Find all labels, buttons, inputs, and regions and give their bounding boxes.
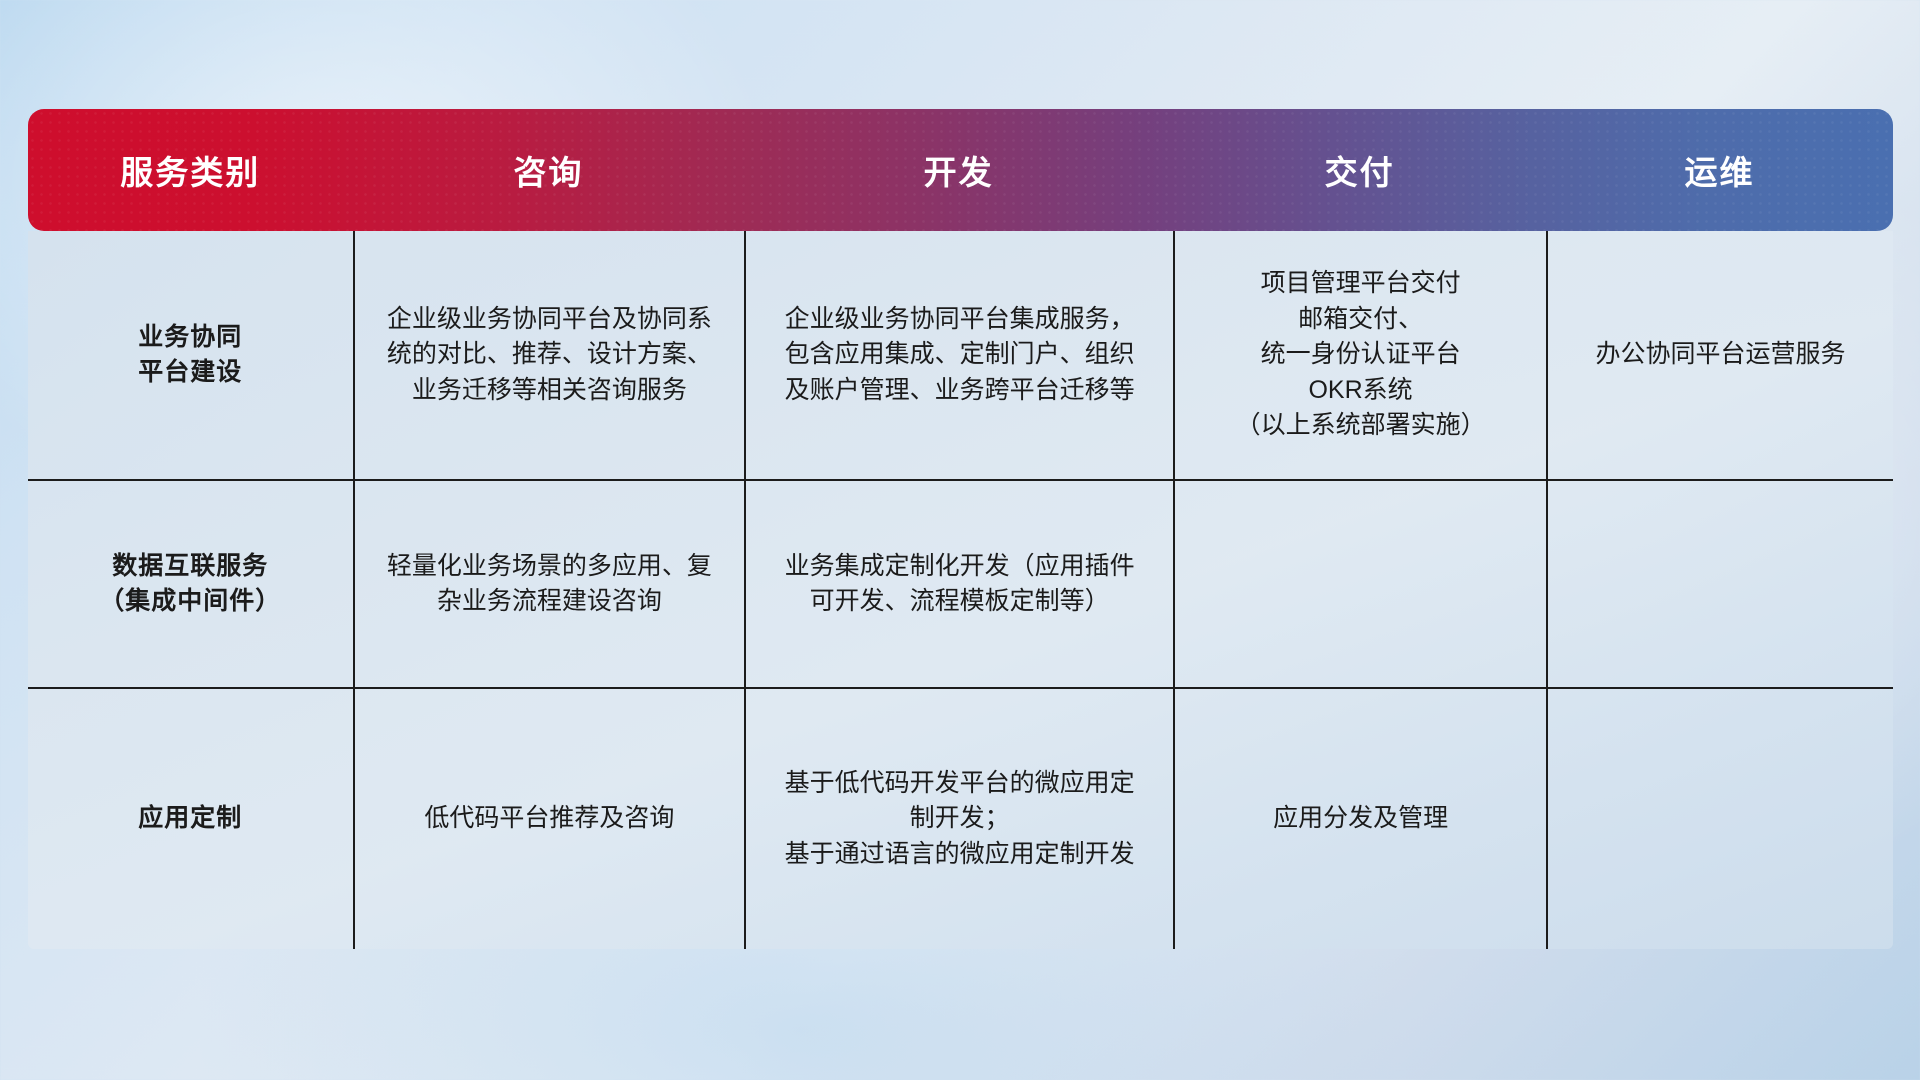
cell-delivery: 应用分发及管理	[1173, 687, 1546, 949]
table-header-row-group: 服务类别 咨询 开发 交付 运维	[28, 109, 1893, 231]
column-header-development: 开发	[744, 109, 1173, 231]
cell-consulting: 企业级业务协同平台及协同系 统的对比、推荐、设计方案、 业务迁移等相关咨询服务	[353, 231, 745, 479]
column-header-service-category: 服务类别	[28, 109, 353, 231]
table-row: 数据互联服务 （集成中间件） 轻量化业务场景的多应用、复 杂业务流程建设咨询 业…	[28, 479, 1893, 687]
cell-consulting: 轻量化业务场景的多应用、复 杂业务流程建设咨询	[353, 479, 745, 687]
service-matrix: 服务类别 咨询 开发 交付 运维 业务协同 平台建设	[28, 109, 1893, 949]
table-row: 应用定制 低代码平台推荐及咨询 基于低代码开发平台的微应用定 制开发； 基于通过…	[28, 687, 1893, 949]
cell-operations	[1546, 687, 1893, 949]
cell-text: 轻量化业务场景的多应用、复 杂业务流程建设咨询	[373, 549, 727, 620]
cell-development: 基于低代码开发平台的微应用定 制开发； 基于通过语言的微应用定制开发	[744, 687, 1173, 949]
row-category-cell: 数据互联服务 （集成中间件）	[28, 479, 353, 687]
column-header-label: 咨询	[513, 154, 583, 191]
column-header-label: 运维	[1685, 154, 1755, 191]
cell-operations: 办公协同平台运营服务	[1546, 231, 1893, 479]
table-row: 业务协同 平台建设 企业级业务协同平台及协同系 统的对比、推荐、设计方案、 业务…	[28, 231, 1893, 479]
cell-text: 办公协同平台运营服务	[1566, 337, 1875, 373]
row-category-label: 业务协同 平台建设	[46, 320, 335, 391]
cell-text: 应用分发及管理	[1193, 801, 1528, 837]
table-header-row: 服务类别 咨询 开发 交付 运维	[28, 109, 1893, 231]
cell-development: 业务集成定制化开发（应用插件 可开发、流程模板定制等）	[744, 479, 1173, 687]
cell-text: 基于低代码开发平台的微应用定 制开发； 基于通过语言的微应用定制开发	[764, 766, 1155, 873]
column-header-label: 服务类别	[120, 154, 260, 191]
cell-delivery: 项目管理平台交付 邮箱交付、 统一身份认证平台 OKR系统 （以上系统部署实施）	[1173, 231, 1546, 479]
service-matrix-table: 服务类别 咨询 开发 交付 运维 业务协同 平台建设	[28, 109, 1893, 949]
row-category-label: 应用定制	[46, 801, 335, 837]
column-header-label: 交付	[1325, 154, 1395, 191]
column-header-operations: 运维	[1546, 109, 1893, 231]
row-category-label: 数据互联服务 （集成中间件）	[46, 549, 335, 620]
cell-delivery	[1173, 479, 1546, 687]
column-header-delivery: 交付	[1173, 109, 1546, 231]
cell-operations	[1546, 479, 1893, 687]
row-category-cell: 业务协同 平台建设	[28, 231, 353, 479]
cell-text: 企业级业务协同平台集成服务， 包含应用集成、定制门户、组织 及账户管理、业务跨平…	[764, 302, 1155, 409]
cell-text: 项目管理平台交付 邮箱交付、 统一身份认证平台 OKR系统 （以上系统部署实施）	[1193, 266, 1528, 444]
cell-consulting: 低代码平台推荐及咨询	[353, 687, 745, 949]
column-header-label: 开发	[924, 154, 994, 191]
cell-text: 低代码平台推荐及咨询	[373, 801, 727, 837]
row-category-cell: 应用定制	[28, 687, 353, 949]
table-body: 业务协同 平台建设 企业级业务协同平台及协同系 统的对比、推荐、设计方案、 业务…	[28, 231, 1893, 949]
column-header-consulting: 咨询	[353, 109, 745, 231]
cell-development: 企业级业务协同平台集成服务， 包含应用集成、定制门户、组织 及账户管理、业务跨平…	[744, 231, 1173, 479]
cell-text: 业务集成定制化开发（应用插件 可开发、流程模板定制等）	[764, 549, 1155, 620]
cell-text: 企业级业务协同平台及协同系 统的对比、推荐、设计方案、 业务迁移等相关咨询服务	[373, 302, 727, 409]
